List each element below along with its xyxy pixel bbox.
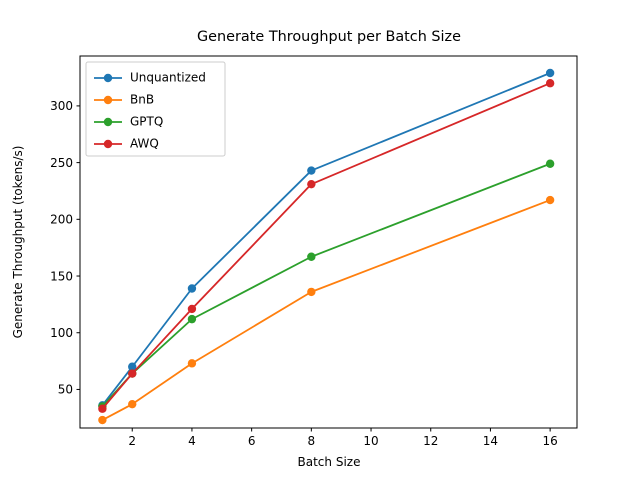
y-tick-label: 150	[50, 269, 73, 283]
generate-throughput-line-chart: Generate Throughput per Batch Size 24681…	[0, 0, 640, 480]
data-point-marker	[307, 180, 315, 188]
chart-legend[interactable]: UnquantizedBnBGPTQAWQ	[86, 62, 225, 156]
x-tick-label: 8	[308, 434, 316, 448]
legend-swatch-marker	[104, 118, 112, 126]
data-point-marker	[307, 253, 315, 261]
data-point-marker	[188, 359, 196, 367]
legend-swatch-marker	[104, 74, 112, 82]
legend-item-label: BnB	[130, 93, 154, 107]
x-tick-label: 10	[363, 434, 378, 448]
data-point-marker	[98, 405, 106, 413]
data-point-marker	[546, 69, 554, 77]
x-tick-label: 2	[128, 434, 136, 448]
legend-item-label: GPTQ	[130, 115, 163, 129]
data-point-marker	[188, 284, 196, 292]
data-point-marker	[546, 160, 554, 168]
data-point-marker	[307, 166, 315, 174]
y-tick-label: 200	[50, 213, 73, 227]
y-axis-label: Generate Throughput (tokens/s)	[11, 146, 25, 339]
legend-item-label: Unquantized	[130, 71, 206, 85]
y-tick-label: 250	[50, 156, 73, 170]
data-point-marker	[546, 196, 554, 204]
data-point-marker	[98, 416, 106, 424]
x-tick-label: 16	[542, 434, 557, 448]
data-point-marker	[307, 288, 315, 296]
data-point-marker	[546, 79, 554, 87]
y-tick-label: 300	[50, 99, 73, 113]
data-point-marker	[188, 315, 196, 323]
y-tick-label: 50	[58, 383, 73, 397]
x-tick-label: 4	[188, 434, 196, 448]
x-tick-label: 12	[423, 434, 438, 448]
x-tick-label: 14	[483, 434, 498, 448]
data-point-marker	[128, 400, 136, 408]
data-point-marker	[188, 305, 196, 313]
legend-item-label: AWQ	[130, 137, 159, 151]
y-tick-label: 100	[50, 326, 73, 340]
x-axis-label: Batch Size	[298, 455, 361, 469]
chart-page: Generate Throughput per Batch Size 24681…	[0, 0, 640, 480]
x-tick-label: 6	[248, 434, 256, 448]
chart-title: Generate Throughput per Batch Size	[197, 29, 461, 45]
legend-swatch-marker	[104, 140, 112, 148]
legend-swatch-marker	[104, 96, 112, 104]
data-point-marker	[128, 369, 136, 377]
